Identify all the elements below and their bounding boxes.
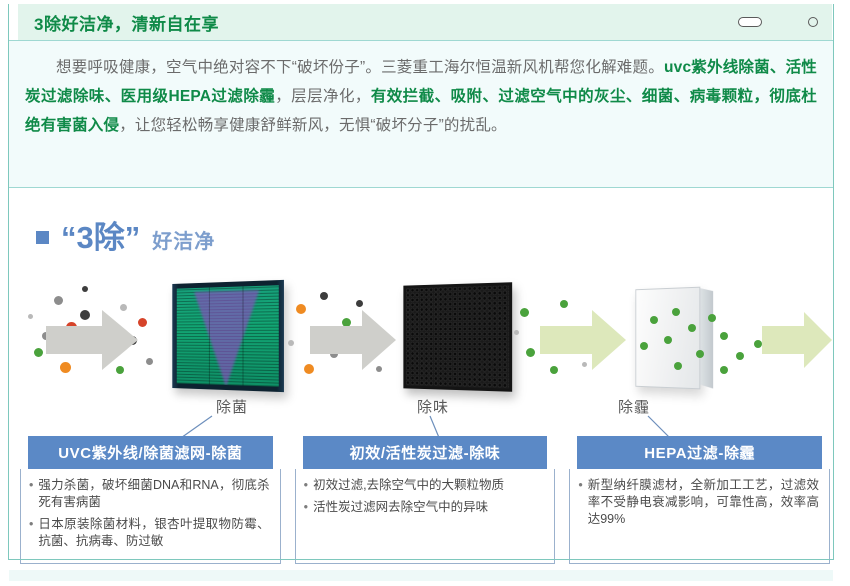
window-controls: [738, 4, 818, 40]
clean-air-arrow-2: [762, 310, 832, 370]
bullet-dot-icon: •: [304, 499, 308, 516]
slide-page: 3除好洁净，清新自在享 想要呼吸健康，空气中绝对容不下“破坏份子”。三菱重工海尔…: [0, 0, 850, 586]
title-bar: 3除好洁净，清新自在享: [18, 4, 832, 40]
uvc-filter-panel: [172, 280, 284, 392]
card-title-2: HEPA过滤-除霾: [577, 436, 822, 469]
dirty-air-arrow-1: [46, 308, 138, 372]
list-item: • 初效过滤,去除空气中的大颗粒物质: [304, 477, 545, 494]
card-bullet-2-0: 新型纳纤膜滤材，全新加工工艺，过滤效率不受静电衰减影响，可靠性高，效率高达99%: [588, 477, 819, 528]
list-item: • 强力杀菌，破坏细菌DNA和RNA，彻底杀死有害病菌: [29, 477, 270, 511]
feature-cards: UVC紫外线/除菌滤网-除菌 • 强力杀菌，破坏细菌DNA和RNA，彻底杀死有害…: [20, 436, 830, 564]
filtration-illustration: [20, 270, 830, 400]
minimize-icon[interactable]: [738, 17, 762, 27]
list-item: • 日本原装除菌材料，银杏叶提取物防霉、抗菌、抗病毒、防过敏: [29, 516, 270, 550]
bottom-strip: [9, 570, 833, 581]
intro-plain: ，让您轻松畅享健康舒鲜新风，无惧“破坏分子”的扰乱。: [119, 117, 507, 134]
dirty-air-arrow-2: [310, 308, 396, 372]
card-bullet-1-0: 初效过滤,去除空气中的大颗粒物质: [313, 477, 504, 494]
intro-text-box: 想要呼吸健康，空气中绝对容不下“破坏份子”。三菱重工海尔恒温新风机帮您化解难题。…: [8, 40, 834, 188]
section-heading-main: “3除”: [61, 222, 140, 253]
bullet-dot-icon: •: [29, 477, 33, 511]
bullet-dot-icon: •: [29, 516, 33, 550]
card-bullet-0-1: 日本原装除菌材料，银杏叶提取物防霉、抗菌、抗病毒、防过敏: [38, 516, 269, 550]
list-item: • 活性炭过滤网去除空气中的异味: [304, 499, 545, 516]
card-carbon[interactable]: 初效/活性炭过滤-除味 • 初效过滤,去除空气中的大颗粒物质 • 活性炭过滤网去…: [295, 436, 556, 564]
card-bullet-1-1: 活性炭过滤网去除空气中的异味: [313, 499, 488, 516]
card-body-0: • 强力杀菌，破坏细菌DNA和RNA，彻底杀死有害病菌 • 日本原装除菌材料，银…: [20, 469, 281, 564]
card-bullet-0-0: 强力杀菌，破坏细菌DNA和RNA，彻底杀死有害病菌: [38, 477, 269, 511]
uv-light-cone: [194, 290, 259, 387]
card-title-0: UVC紫外线/除菌滤网-除菌: [28, 436, 273, 469]
card-uvc[interactable]: UVC紫外线/除菌滤网-除菌 • 强力杀菌，破坏细菌DNA和RNA，彻底杀死有害…: [20, 436, 281, 564]
section-heading: “3除” 好洁净: [36, 222, 215, 254]
page-title: 3除好洁净，清新自在享: [34, 10, 219, 35]
bullet-dot-icon: •: [578, 477, 582, 528]
intro-plain: 想要呼吸健康，空气中绝对容不下“破坏份子”。三菱重工海尔恒温新风机帮您化解难题。: [56, 59, 664, 76]
carbon-filter-panel: [403, 282, 512, 392]
section-heading-sub: 好洁净: [152, 225, 215, 254]
intro-plain: ，层层净化，: [275, 88, 371, 105]
card-body-2: • 新型纳纤膜滤材，全新加工工艺，过滤效率不受静电衰减影响，可靠性高，效率高达9…: [569, 469, 830, 564]
card-body-1: • 初效过滤,去除空气中的大颗粒物质 • 活性炭过滤网去除空气中的异味: [295, 469, 556, 564]
bullet-dot-icon: •: [304, 477, 308, 494]
list-item: • 新型纳纤膜滤材，全新加工工艺，过滤效率不受静电衰减影响，可靠性高，效率高达9…: [578, 477, 819, 528]
close-icon[interactable]: [808, 17, 818, 27]
card-title-1: 初效/活性炭过滤-除味: [303, 436, 548, 469]
intro-paragraph: 想要呼吸健康，空气中绝对容不下“破坏份子”。三菱重工海尔恒温新风机帮您化解难题。…: [25, 53, 817, 140]
card-hepa[interactable]: HEPA过滤-除霾 • 新型纳纤膜滤材，全新加工工艺，过滤效率不受静电衰减影响，…: [569, 436, 830, 564]
clean-air-arrow-1: [540, 308, 626, 372]
square-bullet-icon: [36, 231, 49, 244]
